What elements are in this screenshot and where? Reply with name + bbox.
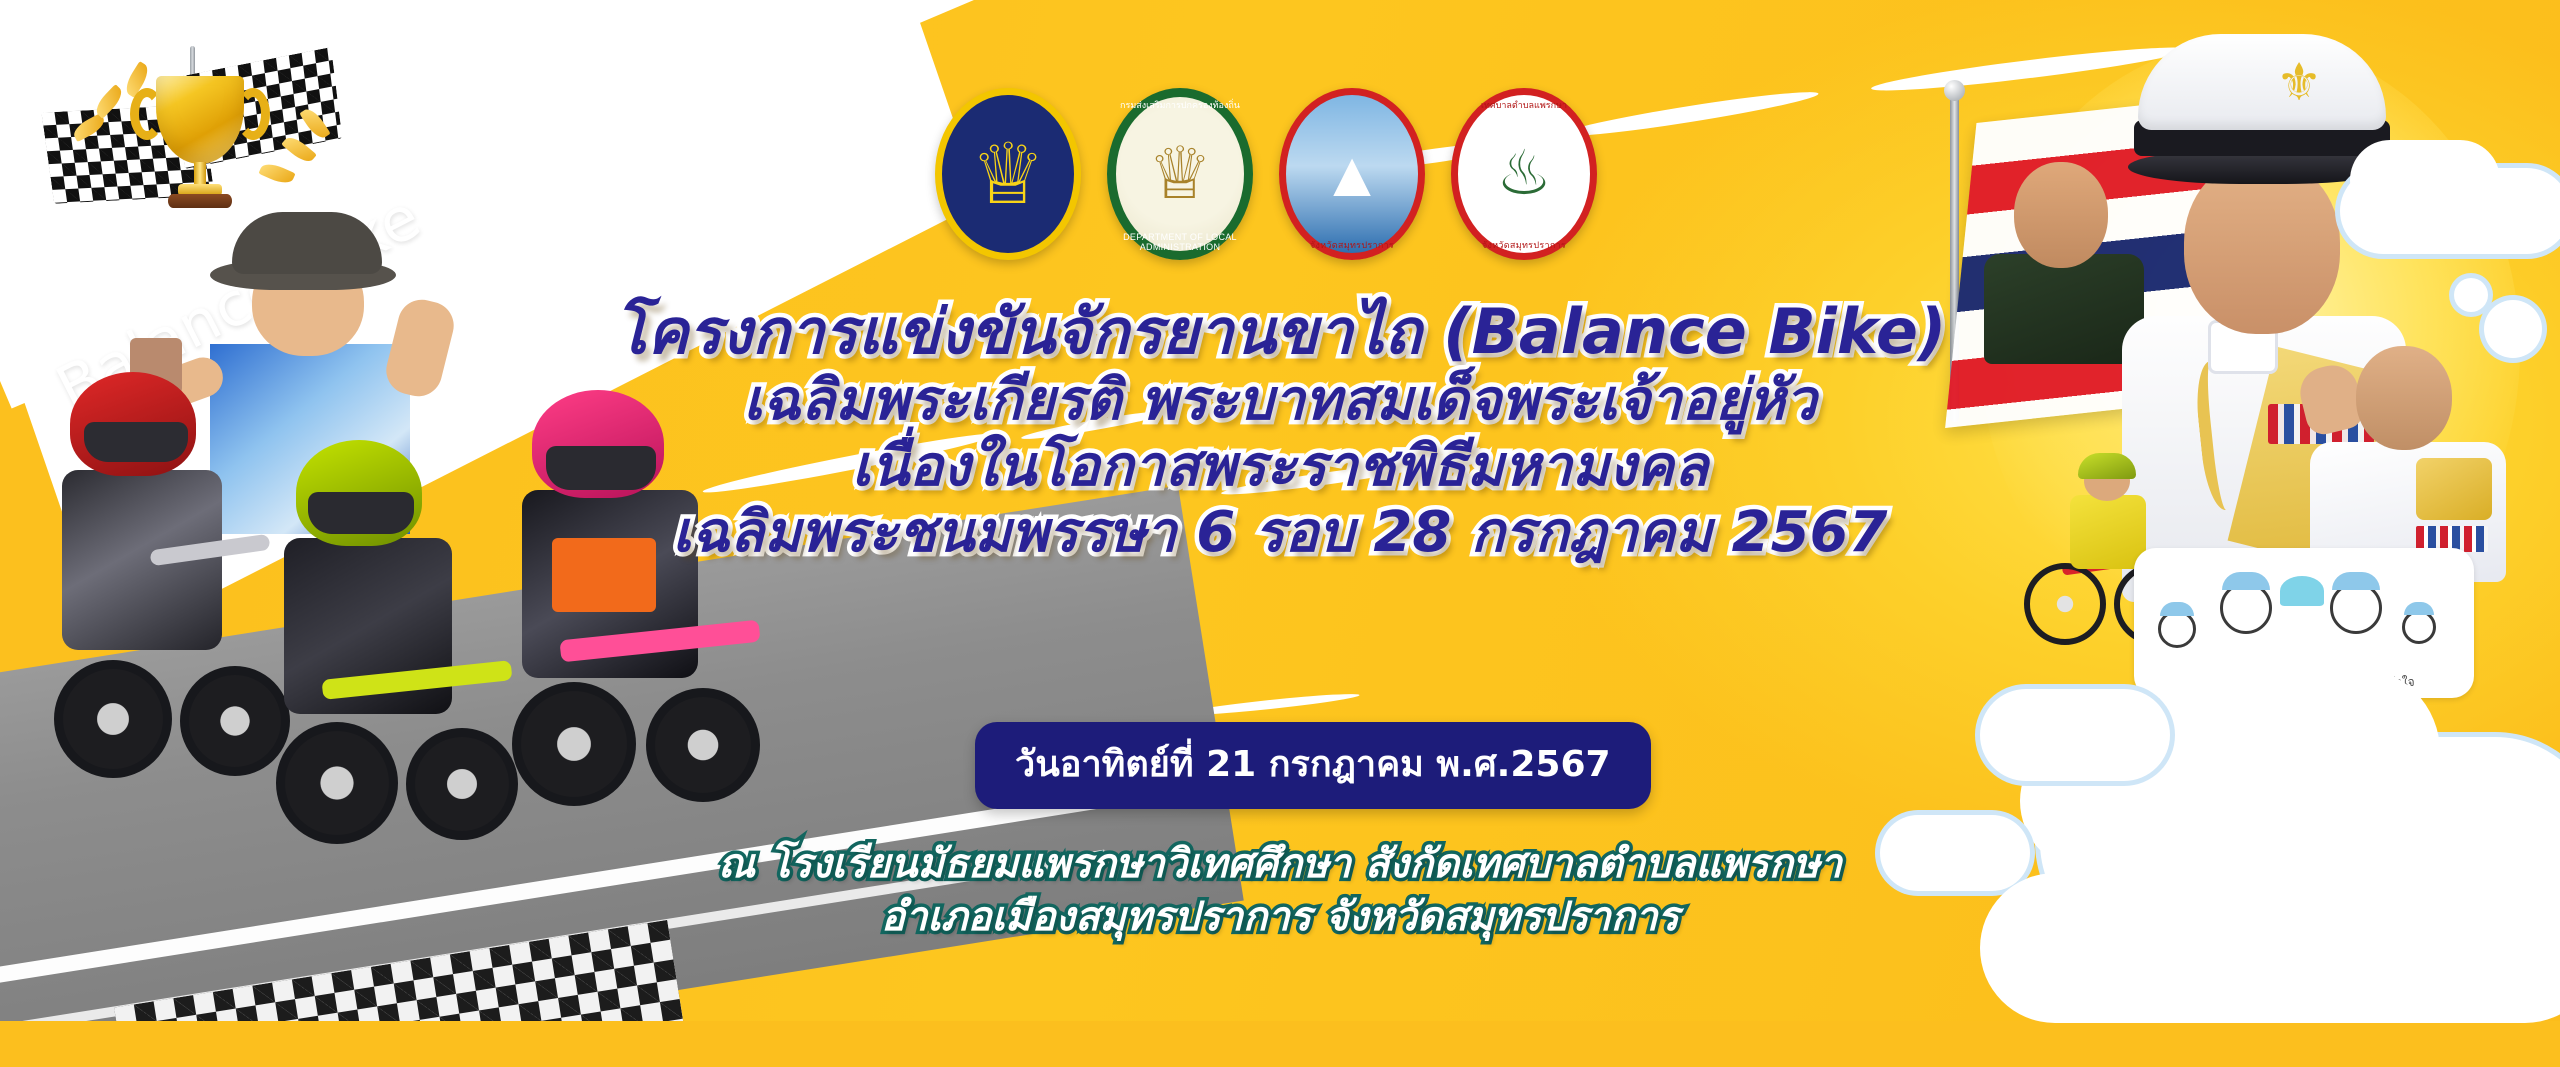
cloud-shape xyxy=(1980,689,2170,781)
bike-wheel xyxy=(276,722,398,844)
bike-wheel xyxy=(406,728,518,840)
cloud-bank-puff xyxy=(1980,873,2560,1023)
doodle-child xyxy=(2402,610,2436,644)
flag-finial-icon xyxy=(1944,80,1965,101)
trophy-cup xyxy=(156,76,244,164)
face xyxy=(2014,162,2108,268)
venue-block: ณ โรงเรียนมัธยมแพรกษาวิเทศศึกษา สังกัดเท… xyxy=(520,838,2040,944)
emblem-oval: ▲ xyxy=(1279,88,1425,260)
emblem-top-text: กรมส่งเสริมการปกครองท้องถิ่น xyxy=(1107,98,1253,112)
green-helmet-visor xyxy=(308,492,414,534)
gold-epaulette xyxy=(2416,458,2492,520)
emblem-caption: DEPARTMENT OF LOCAL ADMINISTRATION xyxy=(1107,232,1253,252)
naval-cap: ⚜ xyxy=(2138,34,2386,130)
cloud-shape xyxy=(2350,140,2500,220)
yellow-cycling-jersey xyxy=(2070,495,2146,569)
king-waving-portrait xyxy=(2296,330,2516,580)
headline-line-3: เนื่องในโอกาสพระราชพิธีมหามงคล xyxy=(520,434,2040,500)
trophy-icon xyxy=(138,76,262,206)
doodle-cap xyxy=(2404,602,2434,615)
emblem-caption: จังหวัดสมุทรปราการ xyxy=(1451,238,1597,252)
emblem-oval: ♨ xyxy=(1451,88,1597,260)
headline-line-4: เฉลิมพระชนมพรรษา 6 รอบ 28 กรกฎาคม 2567 xyxy=(520,500,2040,566)
doodle-cap xyxy=(2160,602,2194,616)
cycling-helmet-icon xyxy=(2078,453,2136,479)
cloud-puff xyxy=(2454,278,2488,312)
trophy-plinth xyxy=(168,194,232,208)
cap-crown xyxy=(232,212,382,274)
emblem-oval: ♕ xyxy=(935,88,1081,260)
red-helmet-visor xyxy=(84,422,188,462)
headline-line-2: เฉลิมพระเกียรติ พระบาทสมเด็จพระเจ้าอยู่ห… xyxy=(520,368,2040,434)
cloud-shape xyxy=(1880,815,2030,891)
emblem-top-text: เทศบาลตำบลแพรกษา xyxy=(1451,98,1597,112)
phra-samut-chedi-icon: ▲ xyxy=(1320,142,1383,206)
singha-lion-icon: ♕ xyxy=(970,132,1045,216)
trophy-stem xyxy=(194,162,206,186)
phraeksa-municipality-emblem: ♨ เทศบาลตำบลแพรกษา จังหวัดสมุทรปราการ xyxy=(1451,88,1597,260)
ministry-of-interior-emblem: ♕ xyxy=(935,88,1081,260)
laurel-leaf xyxy=(258,160,295,188)
venue-line-1: ณ โรงเรียนมัธยมแพรกษาวิเทศศึกษา สังกัดเท… xyxy=(520,838,2040,891)
doodle-cap xyxy=(2332,572,2380,590)
event-banner: Balance Bike ♕ ♕ กรมส่งเสริมการปกครองท้อ… xyxy=(0,0,2560,1067)
bike-wheel xyxy=(2024,563,2106,645)
red-helmet-rider-body xyxy=(62,470,222,650)
headline-line-1: โครงการแข่งขันจักรยานขาไถ (Balance Bike) xyxy=(520,295,2040,368)
face xyxy=(2184,158,2340,334)
heart-icon xyxy=(2280,576,2324,606)
bike-wheel xyxy=(512,682,636,806)
samut-prakan-province-emblem: ▲ จังหวัดสมุทรปราการ xyxy=(1279,88,1425,260)
event-date-badge: วันอาทิตย์ที่ 21 กรกฎาคม พ.ศ.2567 xyxy=(975,722,1651,809)
singha-lion-icon: ♕ xyxy=(1148,138,1213,210)
venue-line-2: อำเภอเมืองสมุทรปราการ จังหวัดสมุทรปราการ xyxy=(520,891,2040,944)
bike-wheel xyxy=(646,688,760,802)
bike-wheel xyxy=(180,666,290,776)
royal-crest-icon: ⚜ xyxy=(2266,54,2332,116)
emblem-row: ♕ ♕ กรมส่งเสริมการปกครองท้องถิ่น DEPARTM… xyxy=(935,88,1597,260)
emblem-caption: จังหวัดสมุทรปราการ xyxy=(1279,238,1425,252)
department-of-local-administration-emblem: ♕ กรมส่งเสริมการปกครองท้องถิ่น DEPARTMEN… xyxy=(1107,88,1253,260)
bike-wheel xyxy=(54,660,172,778)
face xyxy=(2356,346,2452,450)
doodle-cap xyxy=(2222,572,2270,590)
tree-icon: ♨ xyxy=(1496,143,1552,205)
cloud-puff xyxy=(2484,300,2542,358)
headline-block: โครงการแข่งขันจักรยานขาไถ (Balance Bike)… xyxy=(520,295,2040,566)
bottom-yellow-strip xyxy=(0,1021,2560,1067)
